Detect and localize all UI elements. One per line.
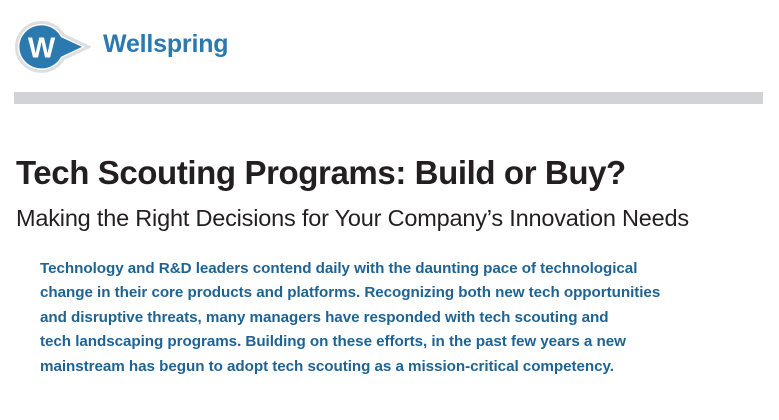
intro-line: Technology and R&D leaders contend daily…: [40, 257, 752, 281]
wellspring-droplet-logo: W: [15, 21, 91, 73]
brand-name: Wellspring: [103, 32, 228, 57]
intro-line: mainstream has begun to adopt tech scout…: [40, 355, 752, 379]
intro-paragraph: Technology and R&D leaders contend daily…: [40, 257, 752, 379]
header-divider-bar: [14, 92, 763, 104]
intro-line: change in their core products and platfo…: [40, 281, 752, 305]
wellspring-logo[interactable]: W: [15, 21, 91, 73]
logo-letter-w: W: [28, 33, 56, 65]
intro-line: tech landscaping programs. Building on t…: [40, 330, 752, 354]
page-subtitle: Making the Right Decisions for Your Comp…: [16, 205, 689, 232]
intro-line: and disruptive threats, many managers ha…: [40, 306, 752, 330]
page-title: Tech Scouting Programs: Build or Buy?: [16, 155, 626, 191]
page-header: W Wellspring: [0, 0, 779, 90]
